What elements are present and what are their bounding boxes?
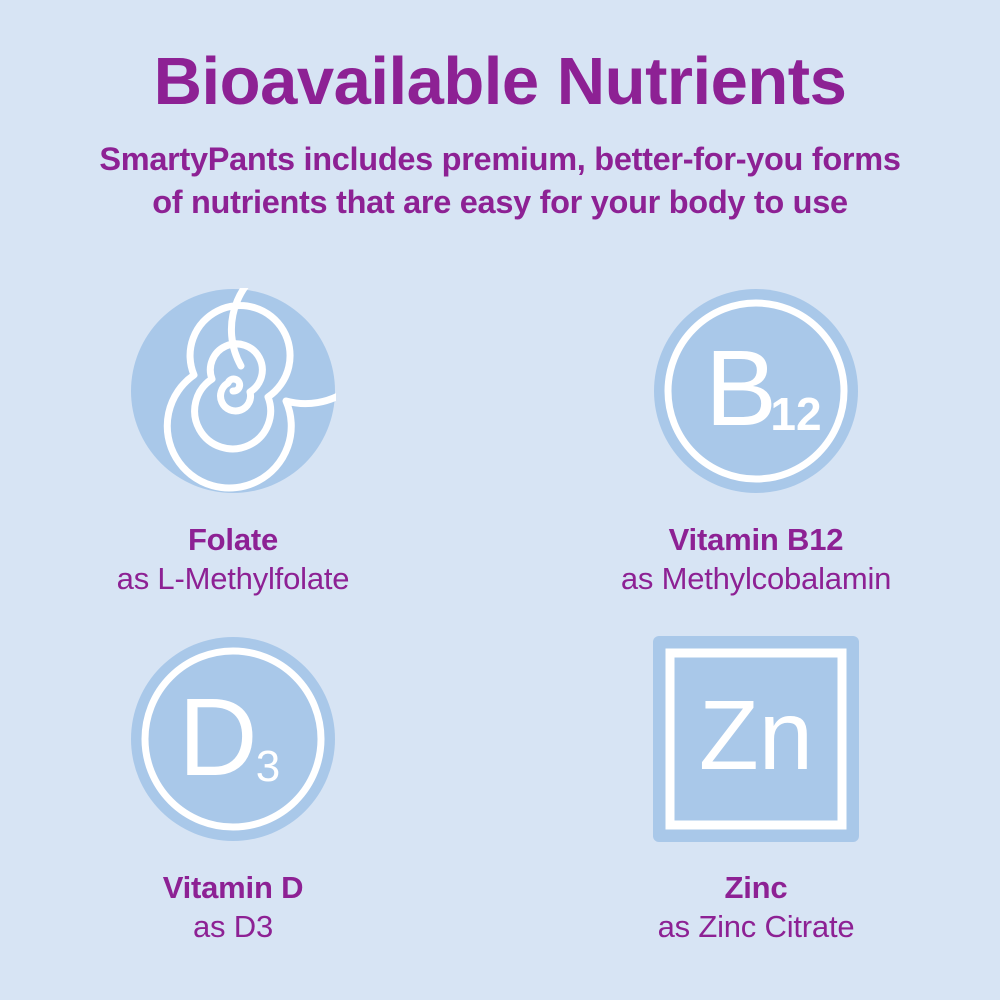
d3-glyph-subscript: 3 — [256, 742, 280, 791]
nutrient-card-vitamin-b12: B 12 Vitamin B12 as Methylcobalamin — [500, 272, 1000, 622]
zinc-square-icon: Zn — [653, 636, 859, 842]
d3-circle-icon: D 3 — [130, 636, 336, 842]
nutrient-name: Folate — [117, 520, 350, 559]
nutrient-name: Vitamin B12 — [621, 520, 891, 559]
infographic-poster: Bioavailable Nutrients SmartyPants inclu… — [0, 0, 1000, 1000]
nutrient-card-vitamin-d: D 3 Vitamin D as D3 — [0, 622, 500, 972]
page-subtitle: SmartyPants includes premium, better-for… — [0, 138, 1000, 224]
zinc-glyph-letters: Zn — [699, 680, 813, 790]
b12-glyph-subscript: 12 — [770, 388, 821, 440]
nutrient-name: Zinc — [658, 868, 855, 907]
nutrient-grid: Folate as L-Methylfolate B 12 Vitamin B1… — [0, 272, 1000, 972]
nutrient-form: as Methylcobalamin — [621, 559, 891, 598]
nutrient-labels: Vitamin B12 as Methylcobalamin — [621, 520, 891, 598]
b12-glyph-letter: B — [705, 327, 777, 448]
page-title: Bioavailable Nutrients — [0, 47, 1000, 117]
subtitle-line-1: SmartyPants includes premium, better-for… — [0, 138, 1000, 181]
subtitle-line-2: of nutrients that are easy for your body… — [0, 181, 1000, 224]
spiral-circle-icon — [130, 288, 336, 494]
nutrient-labels: Vitamin D as D3 — [163, 868, 304, 946]
b12-circle-icon: B 12 — [653, 288, 859, 494]
nutrient-form: as L-Methylfolate — [117, 559, 350, 598]
nutrient-form: as Zinc Citrate — [658, 907, 855, 946]
nutrient-labels: Zinc as Zinc Citrate — [658, 868, 855, 946]
nutrient-form: as D3 — [163, 907, 304, 946]
nutrient-card-zinc: Zn Zinc as Zinc Citrate — [500, 622, 1000, 972]
nutrient-labels: Folate as L-Methylfolate — [117, 520, 350, 598]
nutrient-name: Vitamin D — [163, 868, 304, 907]
d3-glyph-letter: D — [178, 676, 257, 799]
header: Bioavailable Nutrients SmartyPants inclu… — [0, 0, 1000, 224]
nutrient-card-folate: Folate as L-Methylfolate — [0, 272, 500, 622]
